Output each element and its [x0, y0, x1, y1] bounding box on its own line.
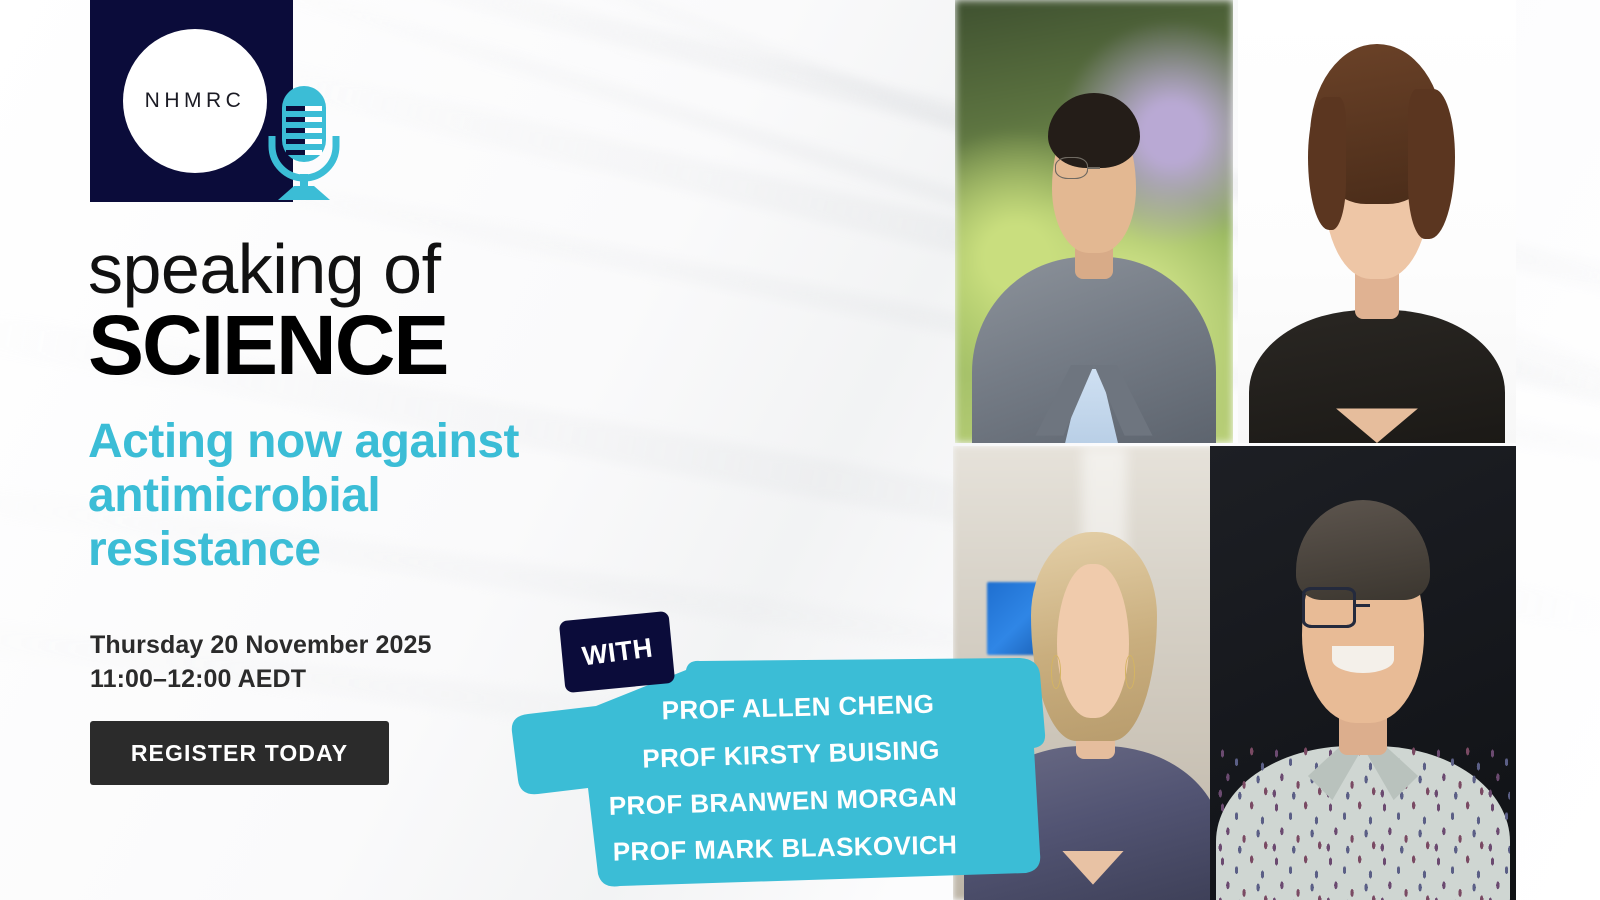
episode-title: Acting now against antimicrobial resista… [88, 415, 608, 576]
event-datetime: Thursday 20 November 2025 11:00–12:00 AE… [90, 628, 432, 696]
register-today-button[interactable]: REGISTER TODAY [90, 721, 389, 785]
eyeglasses-icon [1055, 157, 1133, 179]
portrait-kirsty-buising [1238, 0, 1516, 443]
eyeglasses-icon [1302, 587, 1424, 628]
episode-title-line-1: Acting now against [88, 415, 608, 469]
nhmrc-logo: NHMRC [90, 0, 360, 205]
speakers-name-list: PROF ALLEN CHENG PROF KIRSTY BUISING PRO… [500, 658, 1060, 888]
speaker-name: PROF MARK BLASKOVICH [510, 829, 1060, 867]
episode-title-line-3: resistance [88, 523, 608, 577]
speaker-photo-bottom-right [1210, 446, 1516, 900]
speaker-photo-top-right [1238, 0, 1516, 443]
program-wordmark: speaking of SCIENCE [88, 236, 608, 386]
portrait-mark-blaskovich [1210, 446, 1516, 900]
speaker-name: PROF KIRSTY BUISING [522, 733, 1061, 776]
logo-wordmark-text: NHMRC [123, 29, 267, 173]
wordmark-line-speaking-of: speaking of [88, 236, 608, 303]
speaker-name: PROF BRANWEN MORGAN [506, 780, 1061, 821]
speaking-of-science-promo-banner: NHMRC [0, 0, 1600, 900]
event-time: 11:00–12:00 AEDT [90, 662, 432, 696]
speaker-photo-top-left [955, 0, 1233, 443]
episode-title-line-2: antimicrobial [88, 469, 608, 523]
wordmark-line-science: SCIENCE [88, 305, 608, 386]
microphone-icon [268, 84, 348, 202]
event-date: Thursday 20 November 2025 [90, 628, 432, 662]
portrait-allen-cheng [955, 0, 1233, 443]
speaker-name: PROF ALLEN CHENG [536, 688, 1060, 727]
